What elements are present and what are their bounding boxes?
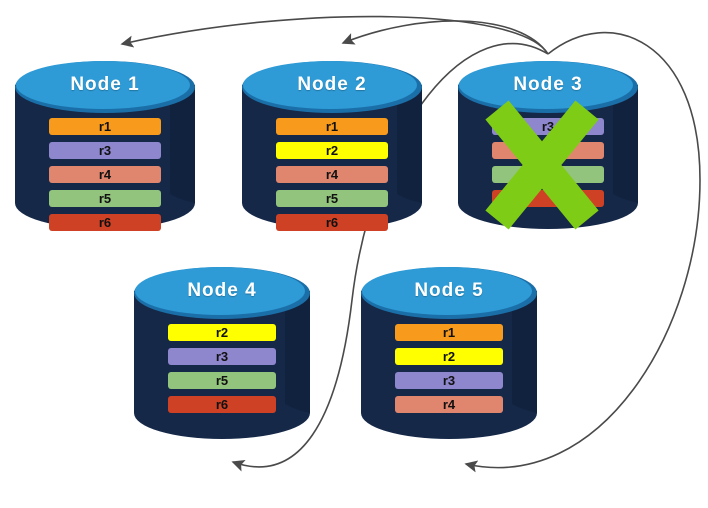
shard-r5[interactable]: r5: [276, 190, 388, 207]
shard-r5[interactable]: r5: [168, 372, 276, 389]
node-1[interactable]: Node 1r1r3r4r5r6: [14, 58, 196, 230]
node-1-shard-list: r1r3r4r5r6: [14, 118, 196, 238]
shard-r2[interactable]: r2: [395, 348, 503, 365]
node-4-shard-list: r2r3r5r6: [133, 324, 311, 420]
cylinder-top-lid: [362, 267, 532, 315]
shard-r4[interactable]: r4: [49, 166, 161, 183]
shard-r2[interactable]: r2: [168, 324, 276, 341]
shard-r4[interactable]: r4: [276, 166, 388, 183]
shard-r4[interactable]: r4: [395, 396, 503, 413]
shard-r6[interactable]: r6: [276, 214, 388, 231]
node-5-shard-list: r1r2r3r4: [360, 324, 538, 420]
cylinder-top-lid: [243, 61, 417, 109]
node-4[interactable]: Node 4r2r3r5r6: [133, 264, 311, 440]
cylinder-top-lid: [135, 267, 305, 315]
arrow-node3-to-node1: [122, 17, 548, 54]
shard-r3[interactable]: r3: [49, 142, 161, 159]
shard-r6[interactable]: [492, 190, 604, 207]
shard-r4[interactable]: [492, 142, 604, 159]
diagram-canvas: Node 1r1r3r4r5r6Node 2r1r2r4r5r6Node 3r3…: [0, 0, 708, 508]
shard-r3[interactable]: r3: [395, 372, 503, 389]
shard-r3[interactable]: r3: [492, 118, 604, 135]
shard-r6[interactable]: r6: [168, 396, 276, 413]
node-2-shard-list: r1r2r4r5r6: [241, 118, 423, 238]
shard-r5[interactable]: [492, 166, 604, 183]
shard-r1[interactable]: r1: [395, 324, 503, 341]
shard-r1[interactable]: r1: [49, 118, 161, 135]
node-5[interactable]: Node 5r1r2r3r4: [360, 264, 538, 440]
node-3-shard-list: r3: [457, 118, 639, 214]
node-2[interactable]: Node 2r1r2r4r5r6: [241, 58, 423, 230]
shard-r1[interactable]: r1: [276, 118, 388, 135]
node-3[interactable]: Node 3r3: [457, 58, 639, 230]
shard-r3[interactable]: r3: [168, 348, 276, 365]
shard-r2[interactable]: r2: [276, 142, 388, 159]
arrow-node3-to-node2: [343, 21, 548, 54]
shard-r5[interactable]: r5: [49, 190, 161, 207]
cylinder-top-lid: [459, 61, 633, 109]
cylinder-top-lid: [16, 61, 190, 109]
shard-r6[interactable]: r6: [49, 214, 161, 231]
